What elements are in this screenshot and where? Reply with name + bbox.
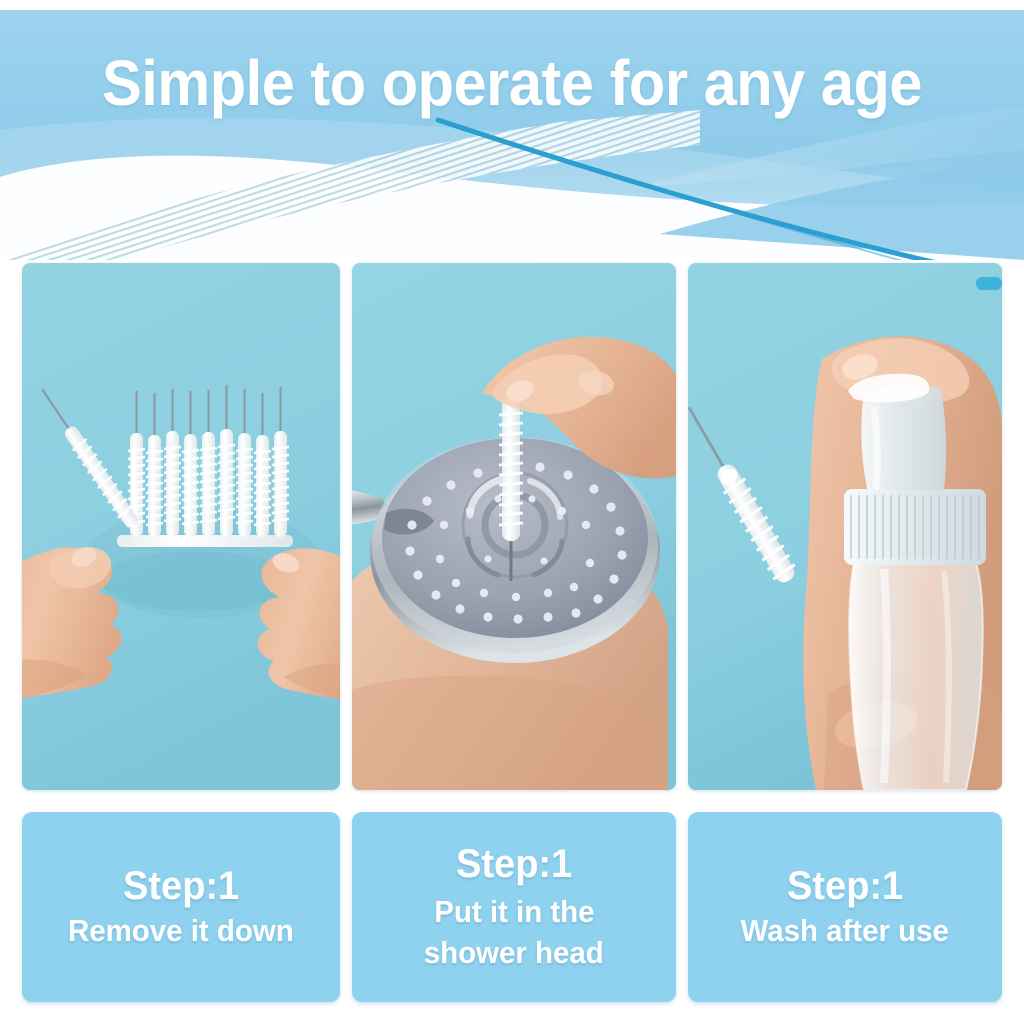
step-1-title: Step:1 bbox=[123, 864, 239, 909]
remove-brush-illustration bbox=[22, 263, 340, 790]
step-2-title: Step:1 bbox=[456, 842, 572, 887]
step-box-2[interactable]: Step:1 Put it in the shower head bbox=[352, 812, 676, 1002]
infographic-page: Simple to operate for any age bbox=[0, 0, 1024, 1024]
page-title: Simple to operate for any age bbox=[36, 46, 988, 120]
photo-panel-insert-brush[interactable] bbox=[352, 263, 676, 790]
step-3-title: Step:1 bbox=[787, 864, 903, 909]
step-box-1[interactable]: Step:1 Remove it down bbox=[22, 812, 340, 1002]
step-3-line-1: Wash after use bbox=[741, 912, 949, 950]
photo-panel-remove-brush[interactable] bbox=[22, 263, 340, 790]
panel-edge-tab bbox=[976, 277, 1002, 290]
step-box-3[interactable]: Step:1 Wash after use bbox=[688, 812, 1002, 1002]
photo-panel-wash-brush[interactable] bbox=[688, 263, 1002, 790]
photo-panel-row bbox=[22, 263, 1002, 790]
header-banner: Simple to operate for any age bbox=[0, 10, 1024, 260]
step-caption-row: Step:1 Remove it down Step:1 Put it in t… bbox=[22, 812, 1002, 1002]
step-2-line-1: Put it in the bbox=[434, 893, 594, 931]
step-1-line-1: Remove it down bbox=[68, 912, 294, 950]
insert-brush-illustration bbox=[352, 263, 676, 790]
wash-brush-illustration bbox=[688, 263, 1002, 790]
step-2-line-2: shower head bbox=[424, 934, 604, 972]
